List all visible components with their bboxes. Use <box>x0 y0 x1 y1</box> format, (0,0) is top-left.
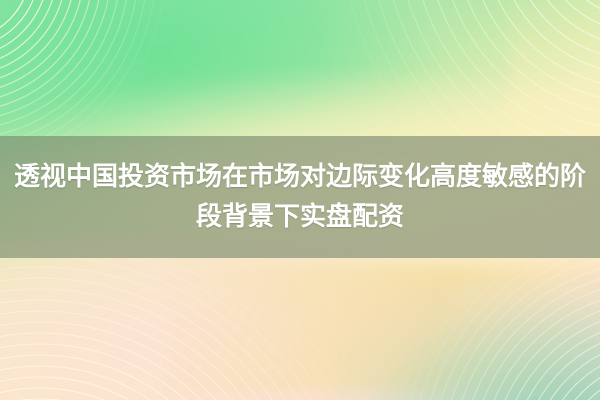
banner-image: 透视中国投资市场在市场对边际变化高度敏感的阶段背景下实盘配资 <box>0 0 600 400</box>
background-teal-corner-glow <box>336 280 600 400</box>
title-band: 透视中国投资市场在市场对边际变化高度敏感的阶段背景下实盘配资 <box>0 136 600 258</box>
page-title: 透视中国投资市场在市场对边际变化高度敏感的阶段背景下实盘配资 <box>6 157 594 237</box>
